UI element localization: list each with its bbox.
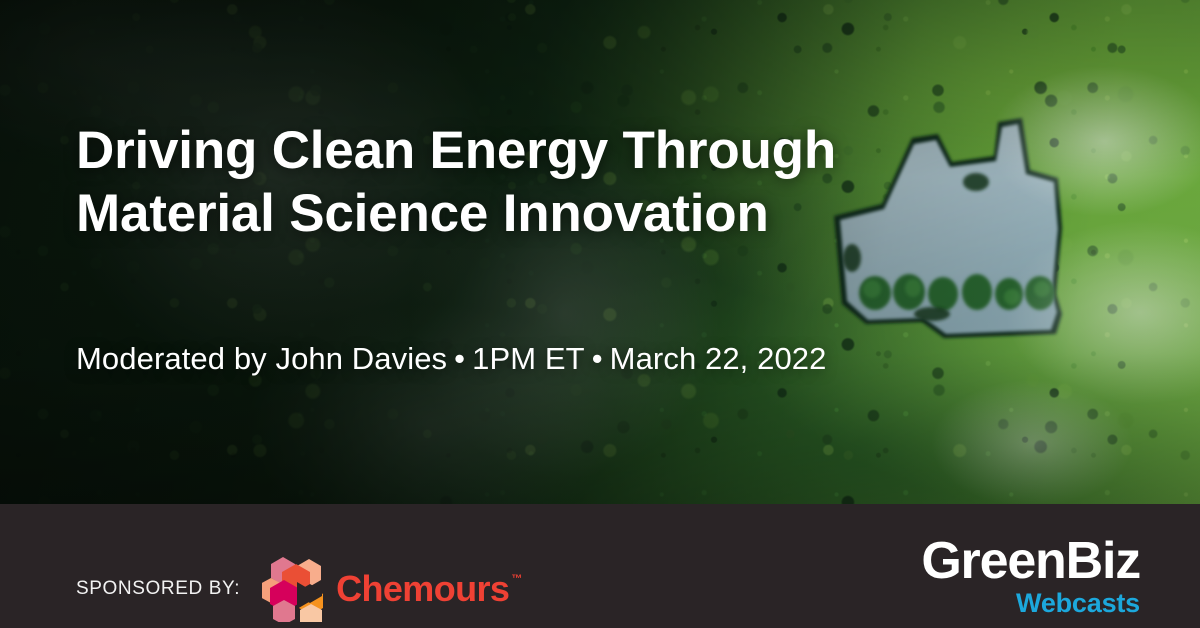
- greenbiz-logo[interactable]: GreenBiz Webcasts: [921, 534, 1140, 618]
- chemours-hexagon-icon: [262, 556, 324, 622]
- sponsored-by-label: SPONSORED BY:: [76, 578, 240, 600]
- event-details: Moderated by John Davies•1PM ET•March 22…: [76, 339, 996, 379]
- headline-line-2: Material Science Innovation: [76, 182, 976, 245]
- headline-line-1: Driving Clean Energy Through: [76, 121, 836, 180]
- greenbiz-wordmark: GreenBiz: [921, 534, 1140, 588]
- webcast-promo-banner: Driving Clean Energy Through Material Sc…: [0, 0, 1200, 628]
- moderator-name: Moderated by John Davies: [76, 341, 447, 376]
- sponsor-footer-bar: SPONSORED BY:: [0, 504, 1200, 628]
- greenbiz-webcasts-label: Webcasts: [921, 588, 1140, 618]
- sponsor-logo-chemours[interactable]: Chemours ™: [262, 556, 522, 622]
- chemours-wordmark: Chemours ™: [336, 571, 522, 607]
- hero-copy: Driving Clean Energy Through Material Sc…: [76, 0, 1026, 504]
- page-title: Driving Clean Energy Through Material Sc…: [76, 119, 976, 245]
- bullet-separator-icon: •: [447, 341, 472, 376]
- trademark-symbol: ™: [511, 574, 521, 585]
- hero-background-image: Driving Clean Energy Through Material Sc…: [0, 0, 1200, 504]
- bullet-separator-icon: •: [585, 341, 610, 376]
- chemours-name: Chemours: [336, 571, 509, 607]
- event-time: 1PM ET: [472, 341, 585, 376]
- sponsor-block: SPONSORED BY:: [76, 556, 522, 622]
- event-date: March 22, 2022: [610, 341, 827, 376]
